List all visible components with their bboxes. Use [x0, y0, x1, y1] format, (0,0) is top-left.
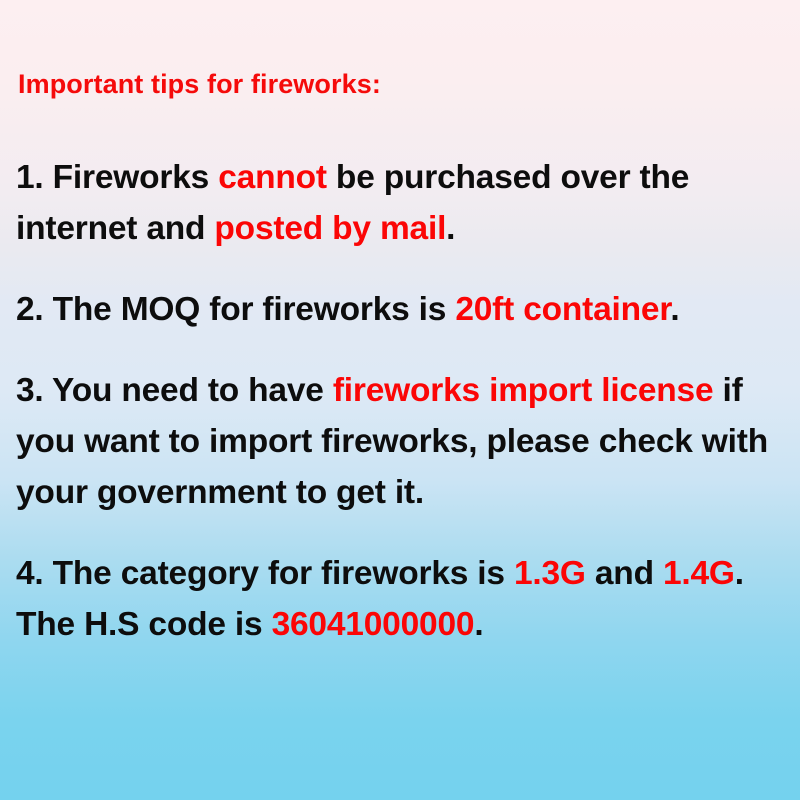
tip-item: 4. The category for fireworks is 1.3G an… [16, 548, 790, 650]
tip-highlight-text: 1.4G [663, 555, 735, 592]
tips-list: 1. Fireworks cannot be purchased over th… [16, 152, 790, 650]
tip-item: 3. You need to have fireworks import lic… [16, 365, 790, 518]
tip-highlight-text: 36041000000 [272, 606, 475, 643]
tip-text: 1. Fireworks [16, 159, 218, 196]
tip-text: . [670, 291, 679, 328]
tip-highlight-text: cannot [218, 159, 327, 196]
tip-highlight-text: 20ft container [455, 291, 670, 328]
tip-text: . [446, 210, 455, 247]
tip-text: 4. The category for fireworks is [16, 555, 514, 592]
fireworks-tips-infographic: Important tips for fireworks: 1. Firewor… [0, 0, 800, 800]
tip-highlight-text: posted by mail [214, 210, 446, 247]
tip-item: 1. Fireworks cannot be purchased over th… [16, 152, 790, 254]
tip-text: . [474, 606, 483, 643]
tip-item: 2. The MOQ for fireworks is 20ft contain… [16, 284, 790, 335]
tip-text: 3. You need to have [16, 372, 333, 409]
page-title: Important tips for fireworks: [18, 70, 381, 100]
tip-highlight-text: fireworks import license [333, 372, 714, 409]
tip-highlight-text: 1.3G [514, 555, 586, 592]
tip-text: and [586, 555, 663, 592]
tip-text: 2. The MOQ for fireworks is [16, 291, 455, 328]
